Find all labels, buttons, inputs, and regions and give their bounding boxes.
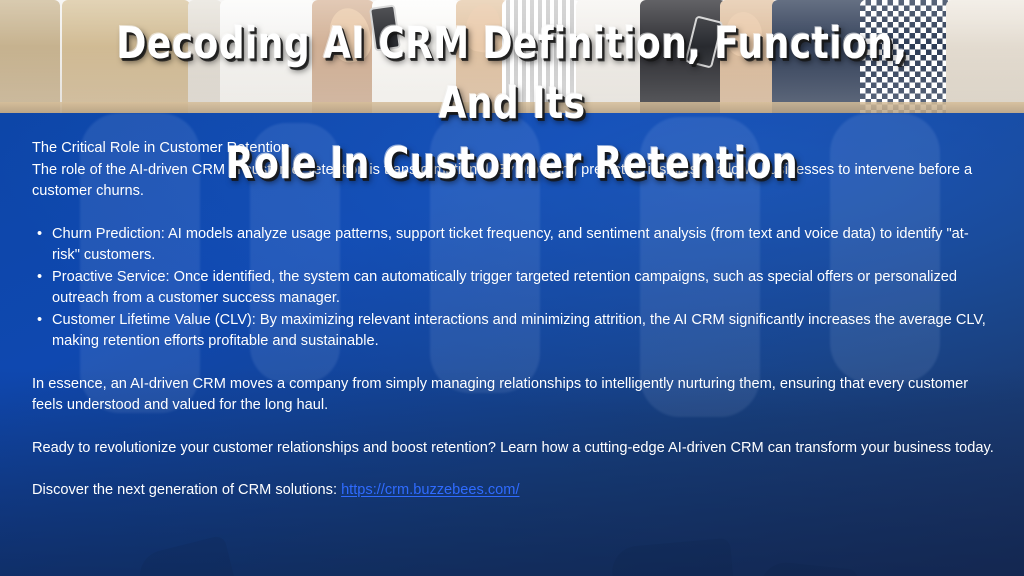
spacer — [32, 203, 994, 224]
slide-content: The Critical Role in Customer Retention … — [32, 138, 994, 502]
header-overlay-haze — [0, 0, 1024, 116]
benefits-bullet-list: • Churn Prediction: AI models analyze us… — [32, 224, 994, 353]
bullet-dot-icon: • — [37, 224, 42, 246]
summary-paragraph: In essence, an AI-driven CRM moves a com… — [32, 374, 994, 417]
header-photo-banner — [0, 0, 1024, 116]
cta-paragraph: Ready to revolutionize your customer rel… — [32, 438, 994, 460]
spacer — [32, 417, 994, 438]
presentation-slide: Decoding AI CRM Definition, Function, An… — [0, 0, 1024, 576]
crm-website-link[interactable]: https://crm.buzzebees.com/ — [341, 482, 519, 498]
closing-label: Discover the next generation of CRM solu… — [32, 482, 341, 498]
section-heading: The Critical Role in Customer Retention — [32, 138, 994, 160]
closing-line: Discover the next generation of CRM solu… — [32, 480, 994, 502]
list-item: • Churn Prediction: AI models analyze us… — [32, 224, 994, 267]
bullet-dot-icon: • — [37, 310, 42, 332]
spacer — [32, 353, 994, 374]
list-item-text: Churn Prediction: AI models analyze usag… — [52, 226, 969, 264]
intro-paragraph: The role of the AI-driven CRM in custome… — [32, 160, 994, 203]
header-photo-image — [0, 0, 1024, 116]
list-item: • Proactive Service: Once identified, th… — [32, 267, 994, 310]
bullet-dot-icon: • — [37, 267, 42, 289]
spacer — [32, 459, 994, 480]
list-item-text: Customer Lifetime Value (CLV): By maximi… — [52, 312, 986, 350]
list-item: • Customer Lifetime Value (CLV): By maxi… — [32, 310, 994, 353]
list-item-text: Proactive Service: Once identified, the … — [52, 269, 957, 307]
